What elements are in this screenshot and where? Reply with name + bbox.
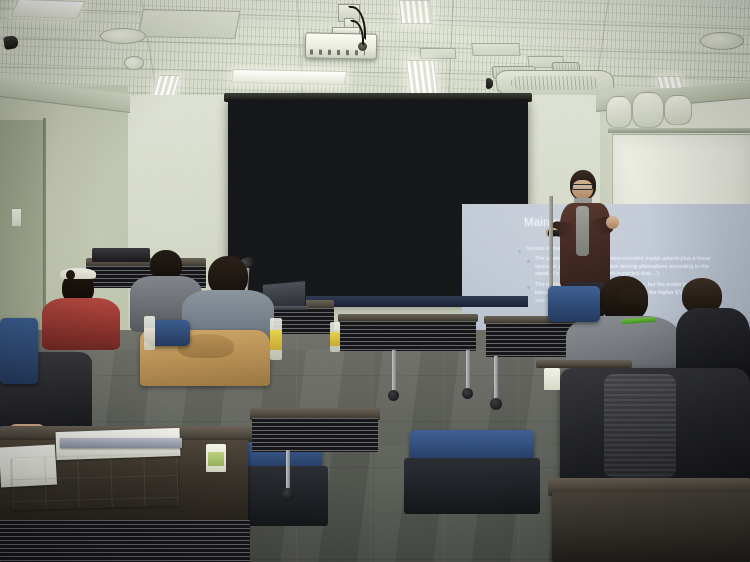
chair-frame (404, 458, 540, 514)
fluorescent-light-fixture (406, 60, 438, 94)
whiteboard-rail (608, 128, 750, 133)
desk-leg (286, 450, 290, 490)
light-switch[interactable] (11, 208, 22, 227)
hair-detail (66, 270, 75, 280)
front-right-desk-surface (552, 492, 750, 562)
desk-leg (466, 350, 470, 390)
chair-back[interactable] (0, 318, 38, 384)
front-center-desk-panel (252, 418, 378, 452)
ceiling-speaker (100, 28, 146, 44)
fluorescent-light-fixture (399, 0, 434, 24)
ceiling-access-panel (137, 9, 240, 39)
handout-binder (60, 438, 182, 448)
jacket-fold (604, 374, 676, 478)
ceiling-duct (632, 92, 664, 128)
presenter-shirt (576, 206, 589, 256)
bottle-label (330, 332, 340, 346)
paper-cup-white (544, 368, 560, 390)
presenter-right-hand (606, 216, 619, 229)
bullet-marker-icon (518, 250, 521, 253)
left-wall-door-panel (0, 120, 44, 330)
desk-panel (340, 321, 476, 351)
bottle-label (270, 330, 282, 350)
fluorescent-light-fixture (231, 69, 347, 85)
desk-caster (282, 488, 294, 500)
bullet-marker-icon (527, 260, 530, 263)
front-left-desk-panel (0, 520, 250, 562)
attendee-red-top (42, 298, 120, 350)
ceiling-duct (664, 95, 692, 125)
glasses-icon (572, 184, 593, 190)
desk (536, 360, 632, 368)
chair-back[interactable] (548, 286, 600, 322)
attendee-back-row-right (618, 288, 674, 328)
ceiling-speaker (124, 56, 144, 70)
desk-caster (490, 398, 502, 410)
attendee-red-headband (42, 268, 122, 354)
bullet-marker-icon (527, 286, 530, 289)
bottle-label (144, 328, 155, 342)
desk-caster (388, 390, 399, 401)
ceiling-duct (606, 96, 632, 128)
paper-cup-pattern (208, 452, 224, 466)
ceiling-speaker (700, 32, 744, 50)
ceiling-access-panel (420, 48, 457, 59)
desk-leg (494, 356, 498, 400)
desk-leg (392, 350, 396, 392)
lecture-room-photograph: Main proposal Syntax-semantics mapping: … (0, 0, 750, 562)
fluorescent-light-fixture (10, 0, 86, 19)
attendee-head (618, 288, 648, 314)
desk-caster (462, 388, 473, 399)
ceiling-access-panel (471, 43, 520, 56)
handout-papers (11, 454, 178, 510)
